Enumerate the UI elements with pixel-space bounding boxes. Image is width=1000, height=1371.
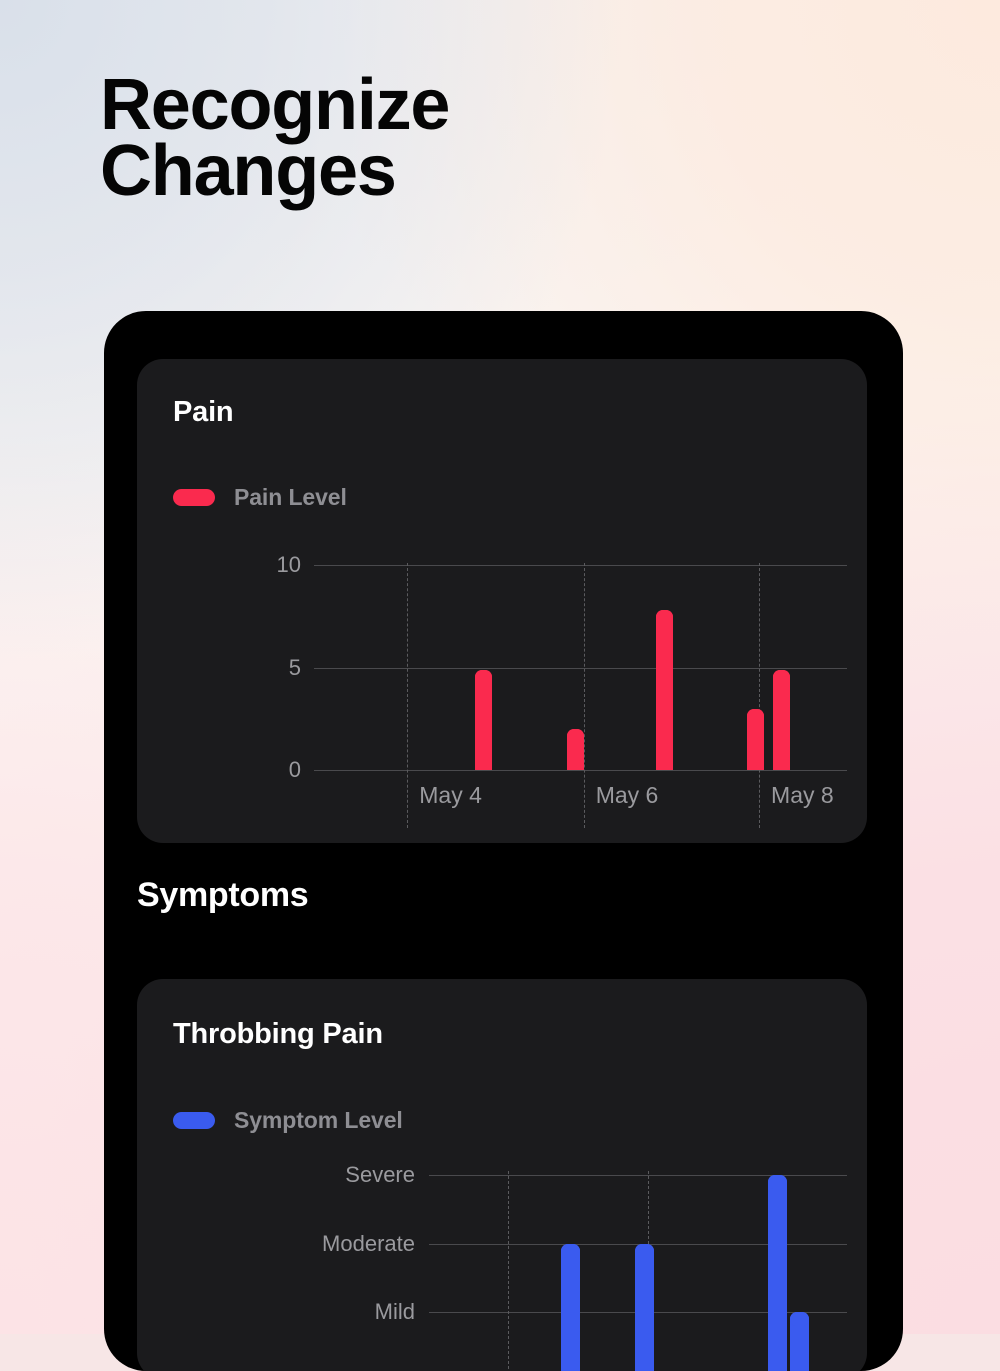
symptoms-heading: Symptoms xyxy=(137,876,308,915)
bar-pain-3[interactable] xyxy=(747,709,764,771)
y-axis-label-severe: Severe xyxy=(239,1162,415,1188)
page-headline: Recognize Changes xyxy=(100,72,449,204)
pain-card[interactable]: Pain Pain Level 0510May 4May 6May 8 xyxy=(137,359,867,843)
bar-symptom-1[interactable] xyxy=(635,1244,654,1371)
y-axis-label-0: 0 xyxy=(239,757,301,783)
y-axis-label-10: 10 xyxy=(239,552,301,578)
gridline-x-0 xyxy=(407,563,408,828)
phone-frame: Pain Pain Level 0510May 4May 6May 8 Symp… xyxy=(104,311,903,1371)
bar-pain-4[interactable] xyxy=(773,670,790,770)
symptom-bar-chart[interactable]: SevereModerateMild xyxy=(137,979,867,1371)
gridline-x-2 xyxy=(759,563,760,828)
bar-pain-0[interactable] xyxy=(475,670,492,770)
gridline-x-1 xyxy=(584,563,585,828)
y-axis-label-5: 5 xyxy=(239,655,301,681)
x-axis-label-May 6: May 6 xyxy=(596,782,659,809)
bar-symptom-0[interactable] xyxy=(561,1244,580,1371)
x-axis-label-May 8: May 8 xyxy=(771,782,834,809)
bar-symptom-3[interactable] xyxy=(790,1312,809,1371)
pain-bar-chart[interactable]: 0510May 4May 6May 8 xyxy=(137,359,867,843)
gridline-x-0 xyxy=(508,1171,509,1371)
y-axis-label-mild: Mild xyxy=(239,1299,415,1325)
gridline-y-10 xyxy=(314,565,847,566)
y-axis-label-moderate: Moderate xyxy=(239,1231,415,1257)
bar-pain-2[interactable] xyxy=(656,610,673,770)
bar-pain-1[interactable] xyxy=(567,729,584,770)
gridline-y-0 xyxy=(314,770,847,771)
x-axis-label-May 4: May 4 xyxy=(419,782,482,809)
throbbing-pain-card[interactable]: Throbbing Pain Symptom Level SevereModer… xyxy=(137,979,867,1371)
gridline-y-5 xyxy=(314,668,847,669)
bar-symptom-2[interactable] xyxy=(768,1175,787,1371)
